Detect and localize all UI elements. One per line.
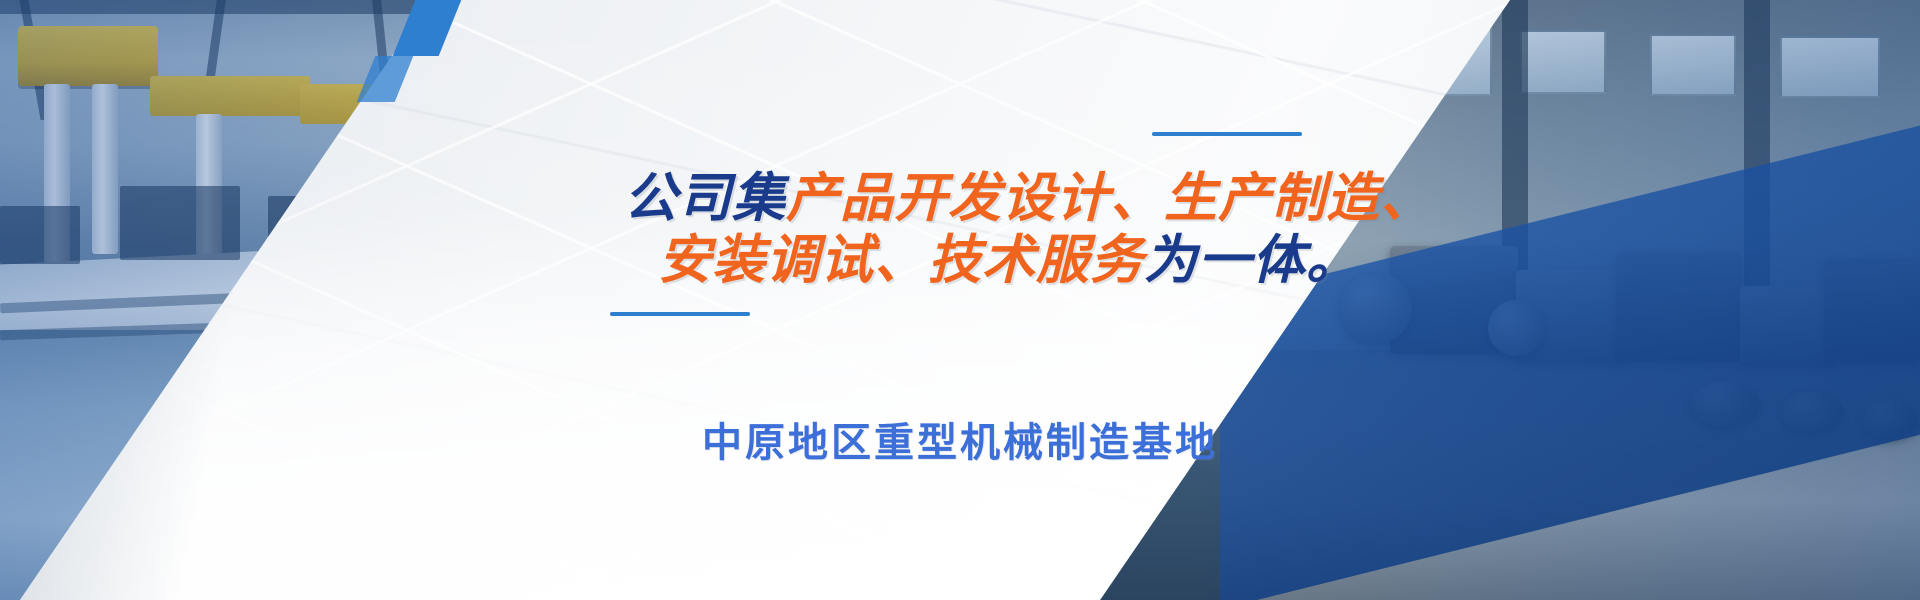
banner-content: 公司集产品开发设计、生产制造、 安装调试、技术服务为一体。 中原地区重型机械制造… [0, 0, 1920, 600]
headline-line-1: 公司集产品开发设计、生产制造、 [624, 168, 1310, 230]
headline-line-2: 安装调试、技术服务为一体。 [658, 230, 1310, 292]
accent-rule-bottom-left [610, 312, 750, 316]
hero-banner: 公司集产品开发设计、生产制造、 安装调试、技术服务为一体。 中原地区重型机械制造… [0, 0, 1920, 600]
headline-line1-segment-navy: 公司集 [624, 168, 786, 229]
headline-line2-segment-navy: 为一体。 [1144, 230, 1360, 291]
headline-block: 公司集产品开发设计、生产制造、 安装调试、技术服务为一体。 [610, 168, 1310, 292]
headline-line1-segment-orange: 产品开发设计、生产制造、 [786, 168, 1434, 229]
accent-rule-top-right [1152, 132, 1302, 136]
headline-line2-segment-orange: 安装调试、技术服务 [658, 230, 1144, 291]
banner-subtitle: 中原地区重型机械制造基地 [702, 410, 1218, 468]
